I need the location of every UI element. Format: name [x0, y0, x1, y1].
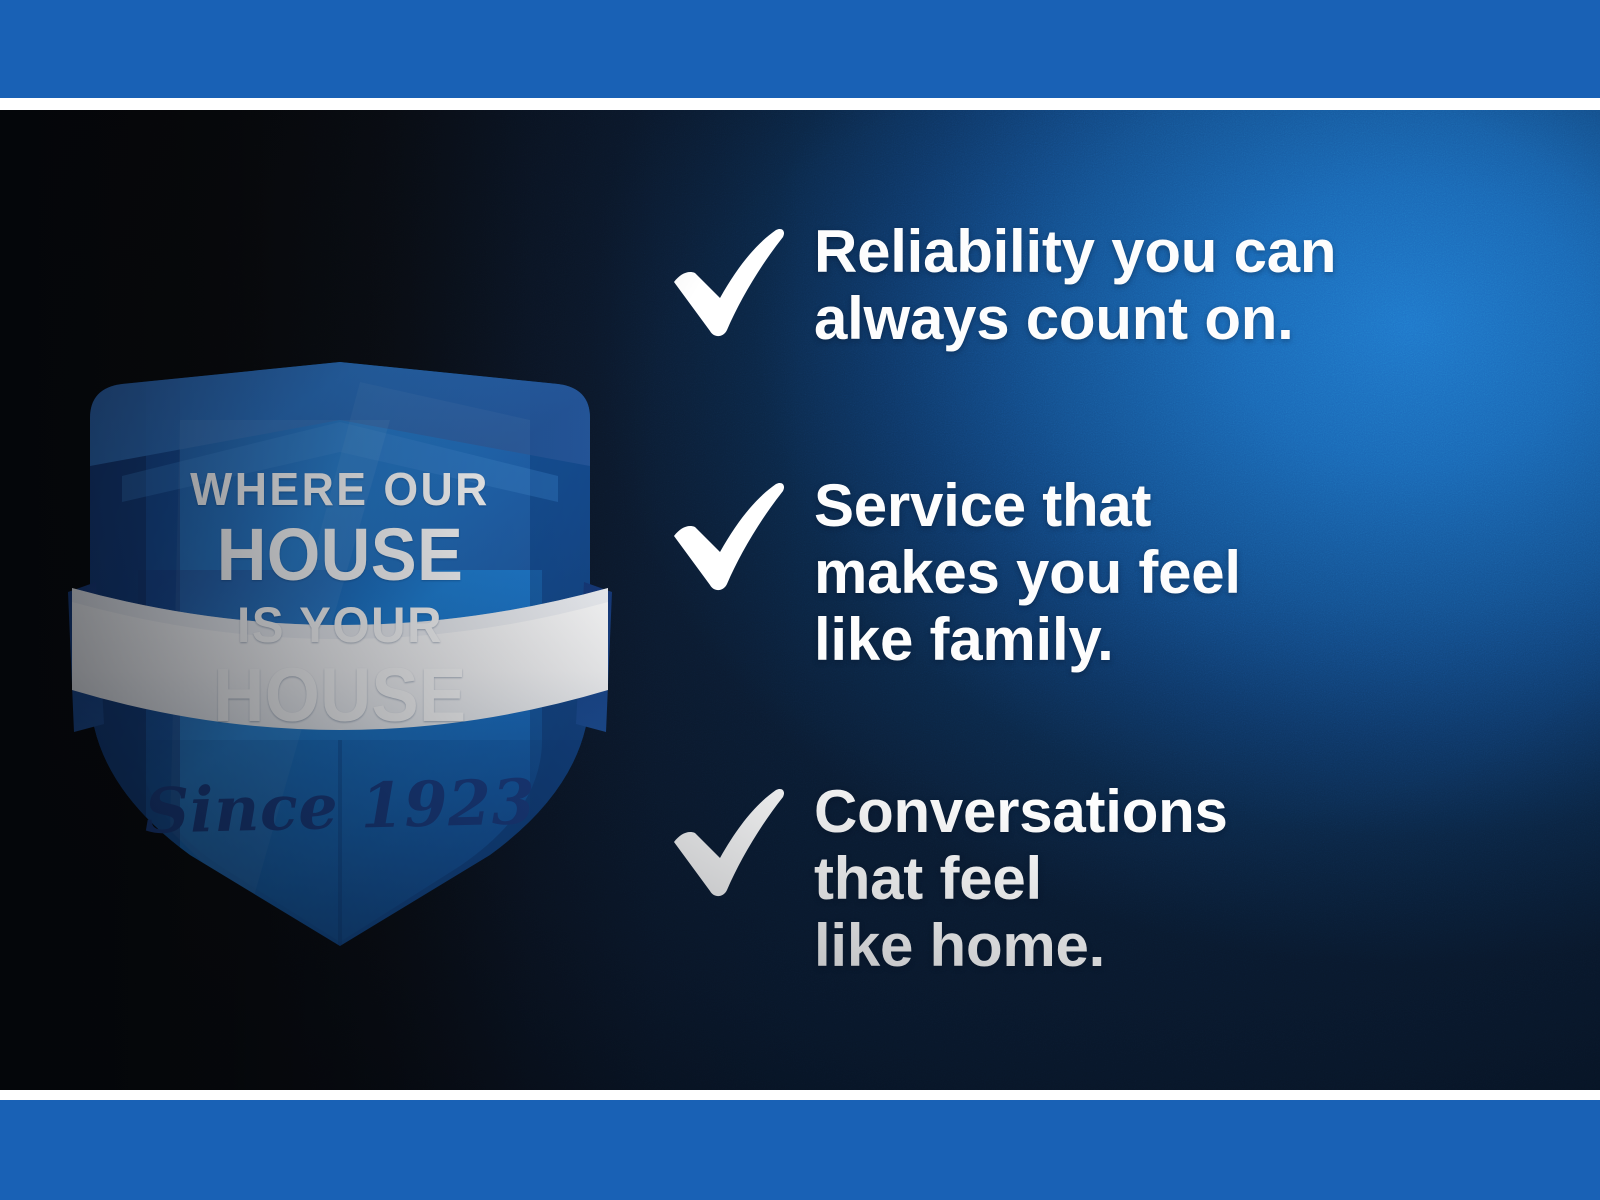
bottom-blue-band [0, 1100, 1600, 1200]
check-icon [668, 476, 788, 594]
badge-line-2: HOUSE [80, 518, 601, 592]
badge-line-3: IS YOUR [74, 600, 606, 650]
check-icon [668, 782, 788, 900]
benefit-line: makes you feel [814, 539, 1241, 606]
badge-line-1: WHERE OUR [68, 466, 611, 512]
benefit-text: Conversations that feel like home. [814, 778, 1228, 980]
benefit-item-conversations: Conversations that feel like home. [668, 778, 1228, 980]
promo-graphic: WHERE OUR HOUSE IS YOUR HOUSE Since 1923… [0, 0, 1600, 1200]
benefit-item-service: Service that makes you feel like family. [668, 472, 1241, 674]
check-icon [668, 222, 788, 340]
benefit-line: always count on. [814, 285, 1336, 352]
benefit-line: like family. [814, 606, 1241, 673]
since-banner [68, 582, 612, 732]
shield-badge: WHERE OUR HOUSE IS YOUR HOUSE Since 1923 [60, 270, 620, 920]
since-year-script: Since 1923 [59, 763, 621, 850]
top-blue-band [0, 0, 1600, 98]
badge-line-4: HOUSE [80, 658, 601, 734]
benefit-text: Service that makes you feel like family. [814, 472, 1241, 674]
benefit-line: like home. [814, 912, 1228, 979]
noise-texture-overlay [0, 110, 1600, 1090]
benefit-item-reliability: Reliability you can always count on. [668, 218, 1336, 352]
artwork-canvas: WHERE OUR HOUSE IS YOUR HOUSE Since 1923… [0, 110, 1600, 1090]
benefit-line: Service that [814, 472, 1241, 539]
benefit-line: that feel [814, 845, 1228, 912]
benefit-line: Conversations [814, 778, 1228, 845]
benefit-line: Reliability you can [814, 218, 1336, 285]
benefits-list: Reliability you can always count on. Ser… [668, 110, 1568, 1090]
benefit-text: Reliability you can always count on. [814, 218, 1336, 352]
shield-graphic [60, 270, 620, 920]
